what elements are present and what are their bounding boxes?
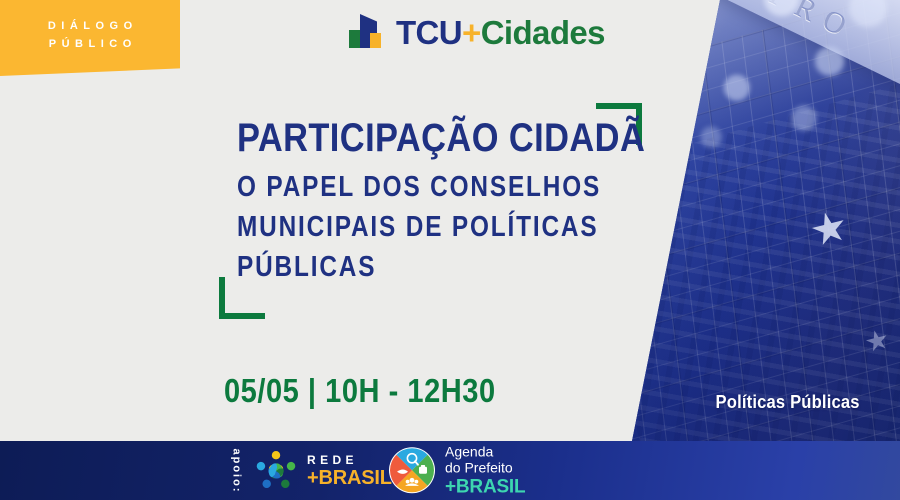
- agenda-prefeito-wordmark: Agenda do Prefeito +BRASIL: [445, 443, 525, 499]
- rede-brasil-people-icon: [253, 448, 299, 494]
- agenda-prefeito-pie-icon: [388, 447, 436, 495]
- dialogo-publico-flag: DIÁLOGO PÚBLICO: [0, 0, 180, 76]
- brasil-label: +BRASIL: [307, 468, 392, 488]
- brand-word-tcu: TCU: [396, 14, 462, 51]
- brand-logo: TCU+Cidades: [347, 9, 605, 55]
- dialogo-line-2: PÚBLICO: [43, 39, 137, 50]
- agenda-label: Agenda: [445, 443, 525, 459]
- agenda-brasil-label: +BRASIL: [445, 476, 525, 498]
- brand-word-cidades: Cidades: [481, 14, 605, 51]
- photo-caption: Políticas Públicas: [716, 392, 860, 413]
- page-title: PARTICIPAÇÃO CIDADÃ: [237, 118, 581, 158]
- do-prefeito-label: do Prefeito: [445, 459, 525, 475]
- building-icon: [347, 12, 387, 52]
- dialogo-line-1: DIÁLOGO: [42, 21, 137, 32]
- support-label: apoio:: [231, 448, 243, 493]
- sponsor-footer-bar: apoio:: [0, 441, 900, 500]
- event-datetime: 05/05 | 10H - 12H30: [224, 372, 496, 410]
- sponsor-rede-brasil[interactable]: REDE +BRASIL: [253, 448, 392, 494]
- sponsor-agenda-prefeito[interactable]: Agenda do Prefeito +BRASIL: [388, 443, 525, 499]
- rede-label: REDE: [307, 454, 392, 466]
- promo-banner: WE PRO Políticas Públicas DIÁLOGO PÚBLIC…: [0, 0, 900, 500]
- brand-wordmark: TCU+Cidades: [396, 16, 605, 49]
- brand-word-plus: +: [462, 14, 481, 51]
- rede-brasil-wordmark: REDE +BRASIL: [307, 454, 392, 488]
- headline-block: PARTICIPAÇÃO CIDADÃ O PAPEL DOS CONSELHO…: [237, 118, 637, 287]
- page-subtitle: O PAPEL DOS CONSELHOS MUNICIPAIS DE POLÍ…: [237, 167, 623, 287]
